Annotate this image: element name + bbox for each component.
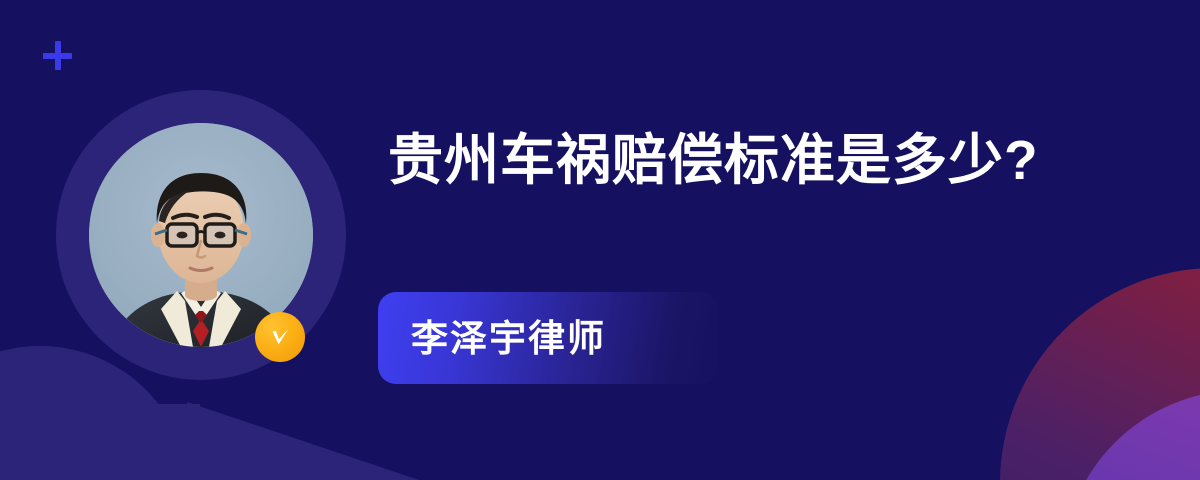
page-title: 贵州车祸赔偿标准是多少? [388,128,1039,192]
author-name-button[interactable]: 李泽宇律师 [378,292,718,384]
violet-glow-circle [1062,390,1200,480]
verified-badge-icon [255,312,305,362]
triangle-shape [187,402,419,480]
plus-icon [43,41,72,70]
lawyer-question-banner: 贵州车祸赔偿标准是多少? 李泽宇律师 [0,0,1200,480]
author-name-label: 李泽宇律师 [411,320,606,357]
avatar [56,90,346,380]
band-shape [0,404,200,480]
crimson-glow-circle [1000,268,1200,480]
